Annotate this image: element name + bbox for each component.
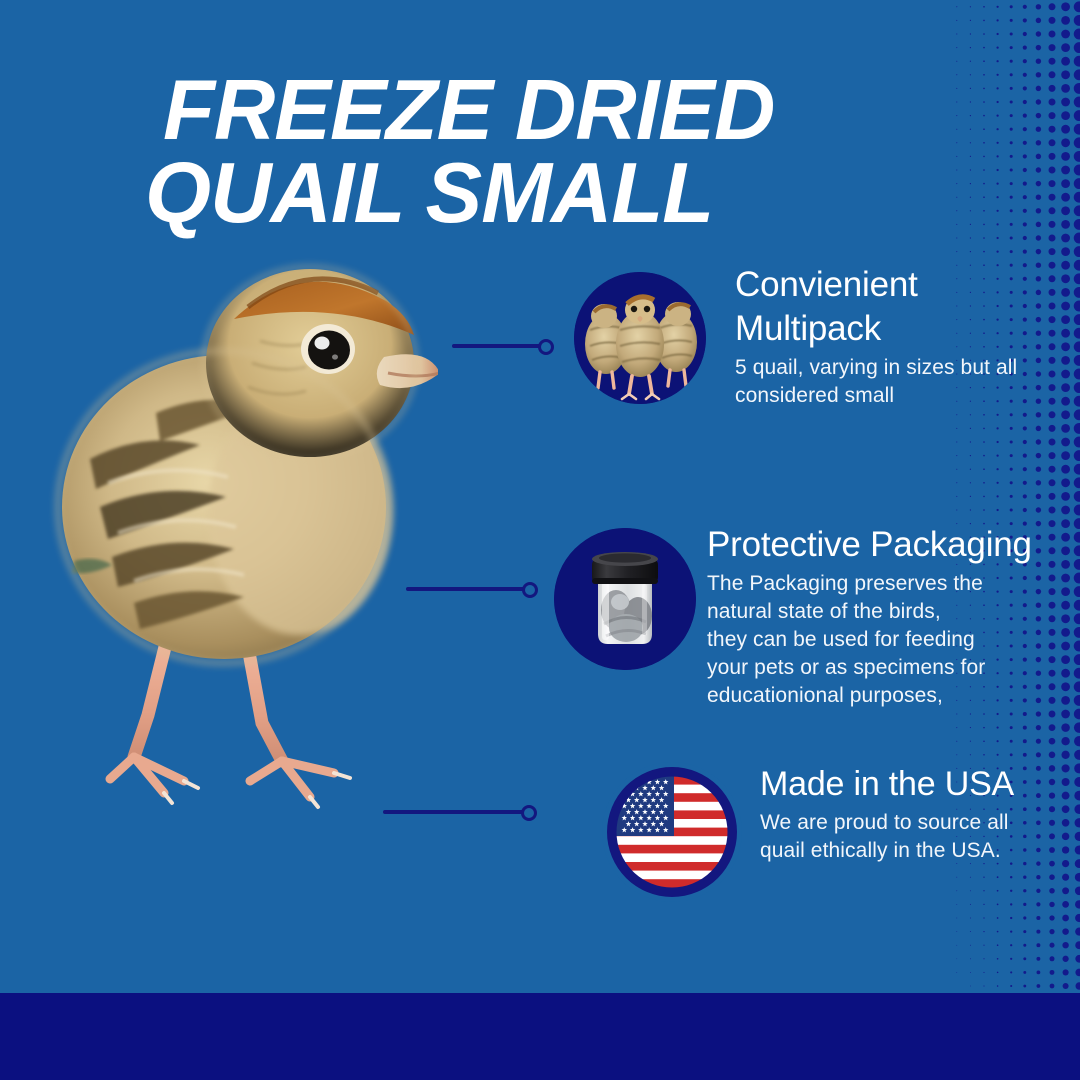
page-title: FREEZE DRIED QUAIL SMALL (163, 69, 963, 236)
feature-body-line: educationional purposes, (707, 682, 1047, 710)
connector-line-packaging (406, 580, 546, 598)
feature-description: The Packaging preserves the natural stat… (707, 570, 1047, 710)
feature-body-line: 5 quail, varying in sizes but all (735, 354, 1065, 382)
three-quail-chicks-photo-icon (574, 272, 706, 404)
feature-description: 5 quail, varying in sizes but all consid… (735, 354, 1065, 410)
feature-body-line: The Packaging preserves the (707, 570, 1047, 598)
connector-line-usa (383, 803, 545, 821)
feature-body-line: they can be used for feeding (707, 626, 1047, 654)
feature-body-line: your pets or as specimens for (707, 654, 1047, 682)
bottom-navy-bar (0, 993, 1080, 1080)
feature-title-line-1: Made in the USA (760, 765, 1014, 803)
feature-body-line: considered small (735, 382, 1065, 410)
usa-flag-circle-icon (600, 760, 744, 904)
quail-chick-photo (38, 245, 438, 835)
connector-rule (406, 587, 528, 591)
feature-title: Convienient Multipack (735, 263, 1065, 351)
black-lid-jar-photo-icon (554, 528, 696, 670)
headline-line-1: FREEZE DRIED (163, 69, 963, 152)
feature-body-line: natural state of the birds, (707, 598, 1047, 626)
feature-title: Made in the USA (760, 763, 1080, 806)
connector-node-icon (522, 582, 538, 598)
feature-protective-packaging: Protective Packaging The Packaging prese… (707, 523, 1047, 710)
connector-node-icon (521, 805, 537, 821)
connector-node-icon (538, 339, 554, 355)
feature-convenient-multipack: Convienient Multipack 5 quail, varying i… (735, 263, 1065, 410)
feature-title-line-1: Protective (707, 525, 861, 564)
connector-rule (383, 810, 527, 814)
feature-title-line-2: Packaging (870, 525, 1032, 564)
feature-description: We are proud to source all quail ethical… (760, 809, 1080, 865)
feature-body-line: We are proud to source all (760, 809, 1080, 837)
connector-rule (452, 344, 544, 348)
feature-body-line: quail ethically in the USA. (760, 837, 1080, 865)
feature-made-in-usa: Made in the USA We are proud to source a… (760, 763, 1080, 865)
feature-title-line-2: Multipack (735, 309, 881, 348)
connector-line-multipack (452, 337, 562, 355)
product-infographic: FREEZE DRIED QUAIL SMALL (0, 0, 1080, 1080)
feature-title-line-1: Convienient (735, 265, 918, 304)
headline-line-2: QUAIL SMALL (145, 152, 963, 235)
feature-title: Protective Packaging (707, 523, 1047, 567)
